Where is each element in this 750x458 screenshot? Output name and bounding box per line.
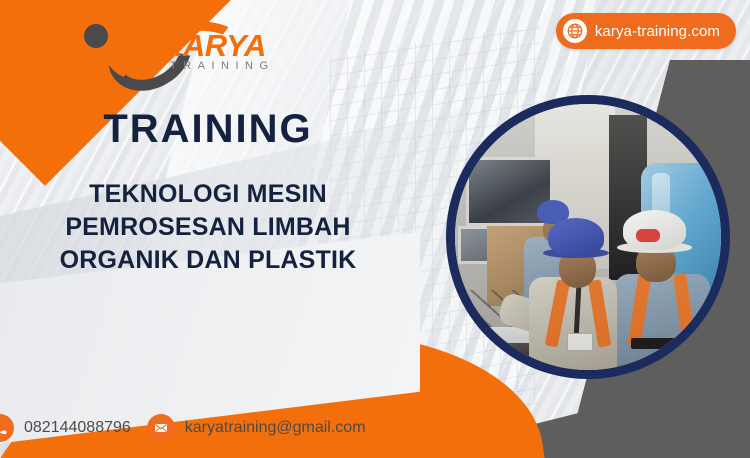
- headline-title-line-1: TEKNOLOGI MESIN: [16, 178, 400, 211]
- logo-dot-icon: [84, 24, 108, 48]
- brand-logo: KARYA TRAINING: [84, 16, 284, 76]
- training-poster: KARYA TRAINING karya-training.com TRAINI…: [0, 0, 750, 458]
- website-badge[interactable]: karya-training.com: [556, 13, 736, 49]
- headline-kicker: TRAINING: [16, 108, 400, 150]
- headline-title-line-2: PEMROSESAN LIMBAH: [16, 211, 400, 244]
- logo-subtitle: TRAINING: [170, 60, 275, 72]
- website-url-label: karya-training.com: [595, 23, 720, 40]
- logo-wordmark: KARYA: [161, 28, 266, 64]
- globe-icon: [563, 19, 587, 43]
- training-photo: [455, 104, 721, 370]
- photo-tone-overlay: [455, 104, 721, 370]
- headline-title: TEKNOLOGI MESIN PEMROSESAN LIMBAH ORGANI…: [16, 178, 400, 277]
- phone-icon: [0, 414, 14, 442]
- headline-block: TRAINING TEKNOLOGI MESIN PEMROSESAN LIMB…: [16, 108, 400, 277]
- contact-bar: 082144088796 karyatraining@gmail.com: [0, 410, 382, 446]
- email-address: karyatraining@gmail.com: [185, 419, 366, 437]
- phone-number: 082144088796: [24, 419, 131, 437]
- headline-title-line-3: ORGANIK DAN PLASTIK: [16, 244, 400, 277]
- photo-circle-frame: [446, 95, 730, 379]
- envelope-icon: [147, 414, 175, 442]
